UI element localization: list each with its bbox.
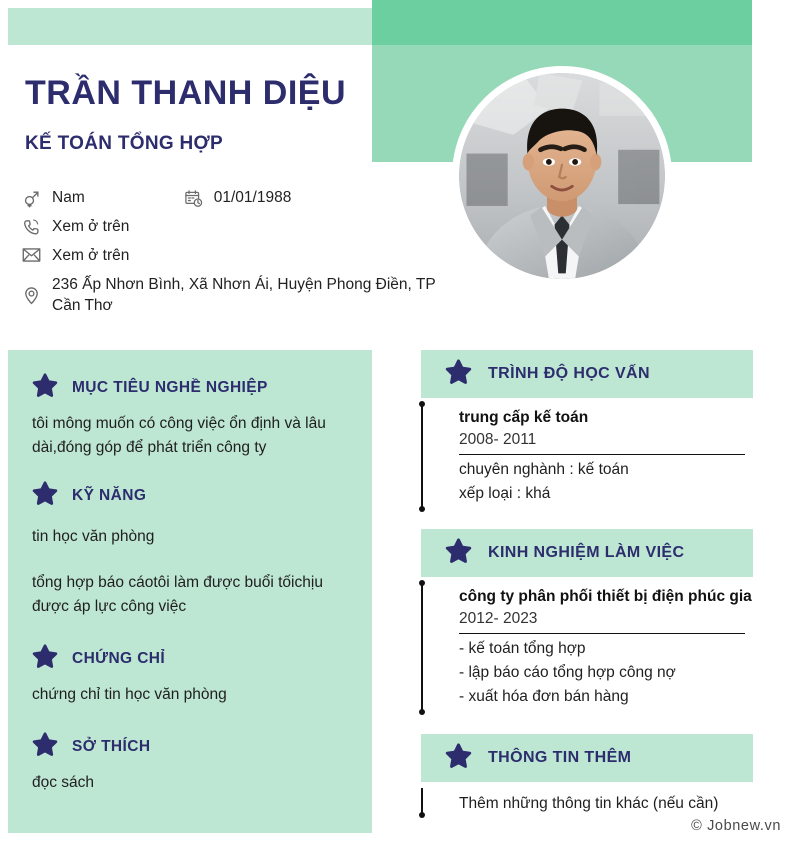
star-icon <box>445 537 472 569</box>
section-header: TRÌNH ĐỘ HỌC VẤN <box>421 350 753 398</box>
right-column: TRÌNH ĐỘ HỌC VẤN trung cấp kế toán 2008-… <box>421 350 753 833</box>
section-paragraph: đọc sách <box>32 771 348 795</box>
section-title: KỸ NĂNG <box>72 487 146 505</box>
section-paragraph: tôi mông muốn có công việc ổn định và lâ… <box>32 412 348 460</box>
section-header: THÔNG TIN THÊM <box>421 734 753 782</box>
education-entry-title: trung cấp kế toán <box>459 407 753 429</box>
section-body: đọc sách <box>32 771 348 795</box>
contact-row-birthday: 01/01/1988 <box>184 188 292 209</box>
location-pin-icon <box>22 286 52 305</box>
more-info-note: Thêm những thông tin khác (nếu cần) <box>459 792 753 815</box>
section-education: TRÌNH ĐỘ HỌC VẤN trung cấp kế toán 2008-… <box>421 350 753 515</box>
star-icon <box>445 742 472 774</box>
gender-value: Nam <box>52 188 85 209</box>
education-details: chuyên nghành : kế toán xếp loại : khá <box>459 455 753 505</box>
education-detail-item: chuyên nghành : kế toán <box>459 458 753 482</box>
section-paragraph: tin học văn phòng <box>32 525 348 549</box>
experience-timeline: công ty phân phối thiết bị điện phúc gia… <box>421 577 753 718</box>
envelope-icon <box>22 246 52 263</box>
timeline-line <box>421 583 423 712</box>
email-value: Xem ở trên <box>52 246 129 267</box>
education-entry-date: 2008- 2011 <box>459 429 745 455</box>
contact-row-gender-birthday: Nam 01/01/1988 <box>22 188 452 210</box>
contact-row-email: Xem ở trên <box>22 246 452 268</box>
page-title: TRẦN THANH DIỆU <box>25 76 346 112</box>
section-body: tin học văn phòng tổng hợp báo cáotôi là… <box>32 525 348 619</box>
experience-details: - kế toán tổng hợp - lập báo cáo tổng hợ… <box>459 634 753 708</box>
section-header: KINH NGHIỆM LÀM VIỆC <box>421 529 753 577</box>
avatar-image <box>459 73 665 279</box>
experience-detail-item: - kế toán tổng hợp <box>459 637 753 661</box>
job-title: KẾ TOÁN TỔNG HỢP <box>25 133 223 155</box>
section-title: SỞ THÍCH <box>72 738 150 756</box>
section-header: KỸ NĂNG <box>32 480 348 511</box>
section-body: tôi mông muốn có công việc ổn định và lâ… <box>32 412 348 460</box>
timeline-line <box>421 404 423 509</box>
timeline-dot-top <box>419 580 425 586</box>
profile-photo-illustration <box>459 73 665 279</box>
education-detail-item: xếp loại : khá <box>459 482 753 506</box>
section-body: chứng chỉ tin học văn phòng <box>32 683 348 707</box>
star-icon <box>445 358 472 390</box>
timeline-dot-bottom <box>419 709 425 715</box>
timeline-dot-bottom <box>419 506 425 512</box>
star-icon <box>32 480 58 511</box>
contact-row-address: 236 Ấp Nhơn Bình, Xã Nhơn Ái, Huyện Phon… <box>22 275 452 317</box>
calendar-clock-icon <box>184 188 214 208</box>
section-experience: KINH NGHIỆM LÀM VIỆC công ty phân phối t… <box>421 529 753 718</box>
experience-entry-title: công ty phân phối thiết bị điện phúc gia <box>459 586 753 608</box>
phone-icon <box>22 217 52 237</box>
address-value: 236 Ấp Nhơn Bình, Xã Nhơn Ái, Huyện Phon… <box>52 275 452 317</box>
section-more-info: THÔNG TIN THÊM Thêm những thông tin khác… <box>421 734 753 821</box>
contact-row-gender: Nam <box>22 188 85 210</box>
left-column: MỤC TIÊU NGHỀ NGHIỆP tôi mông muốn có cô… <box>8 350 372 833</box>
section-title: CHỨNG CHỈ <box>72 650 165 668</box>
contact-info: Nam 01/01/1988 <box>22 188 452 324</box>
education-timeline: trung cấp kế toán 2008- 2011 chuyên nghà… <box>421 398 753 515</box>
section-title: KINH NGHIỆM LÀM VIỆC <box>488 544 684 562</box>
section-title: TRÌNH ĐỘ HỌC VẤN <box>488 365 650 383</box>
section-title: THÔNG TIN THÊM <box>488 749 631 767</box>
section-paragraph: chứng chỉ tin học văn phòng <box>32 683 348 707</box>
birthday-value: 01/01/1988 <box>214 188 292 209</box>
section-career-objective: MỤC TIÊU NGHỀ NGHIỆP tôi mông muốn có cô… <box>32 372 348 460</box>
experience-detail-item: - lập báo cáo tổng hợp công nợ <box>459 661 753 685</box>
section-interests: SỞ THÍCH đọc sách <box>32 731 348 795</box>
contact-row-phone: Xem ở trên <box>22 217 452 239</box>
avatar <box>452 66 672 286</box>
more-info-timeline: Thêm những thông tin khác (nếu cần) <box>421 782 753 821</box>
phone-value: Xem ở trên <box>52 217 129 238</box>
timeline-line <box>421 788 423 815</box>
section-header: CHỨNG CHỈ <box>32 643 348 674</box>
section-paragraph: tổng hợp báo cáotôi làm được buổi tốichị… <box>32 571 348 619</box>
section-certificates: CHỨNG CHỈ chứng chỉ tin học văn phòng <box>32 643 348 707</box>
star-icon <box>32 643 58 674</box>
section-skills: KỸ NĂNG tin học văn phòng tổng hợp báo c… <box>32 480 348 619</box>
gender-icon <box>22 188 52 208</box>
star-icon <box>32 372 58 403</box>
experience-detail-item: - xuất hóa đơn bán hàng <box>459 685 753 709</box>
experience-entry-date: 2012- 2023 <box>459 608 745 634</box>
section-header: SỞ THÍCH <box>32 731 348 762</box>
footer-credit: © Jobnew.vn <box>691 818 781 834</box>
header-dark-band <box>372 0 752 45</box>
timeline-dot-top <box>419 401 425 407</box>
section-header: MỤC TIÊU NGHỀ NGHIỆP <box>32 372 348 403</box>
star-icon <box>32 731 58 762</box>
section-title: MỤC TIÊU NGHỀ NGHIỆP <box>72 379 268 397</box>
timeline-dot-bottom <box>419 812 425 818</box>
